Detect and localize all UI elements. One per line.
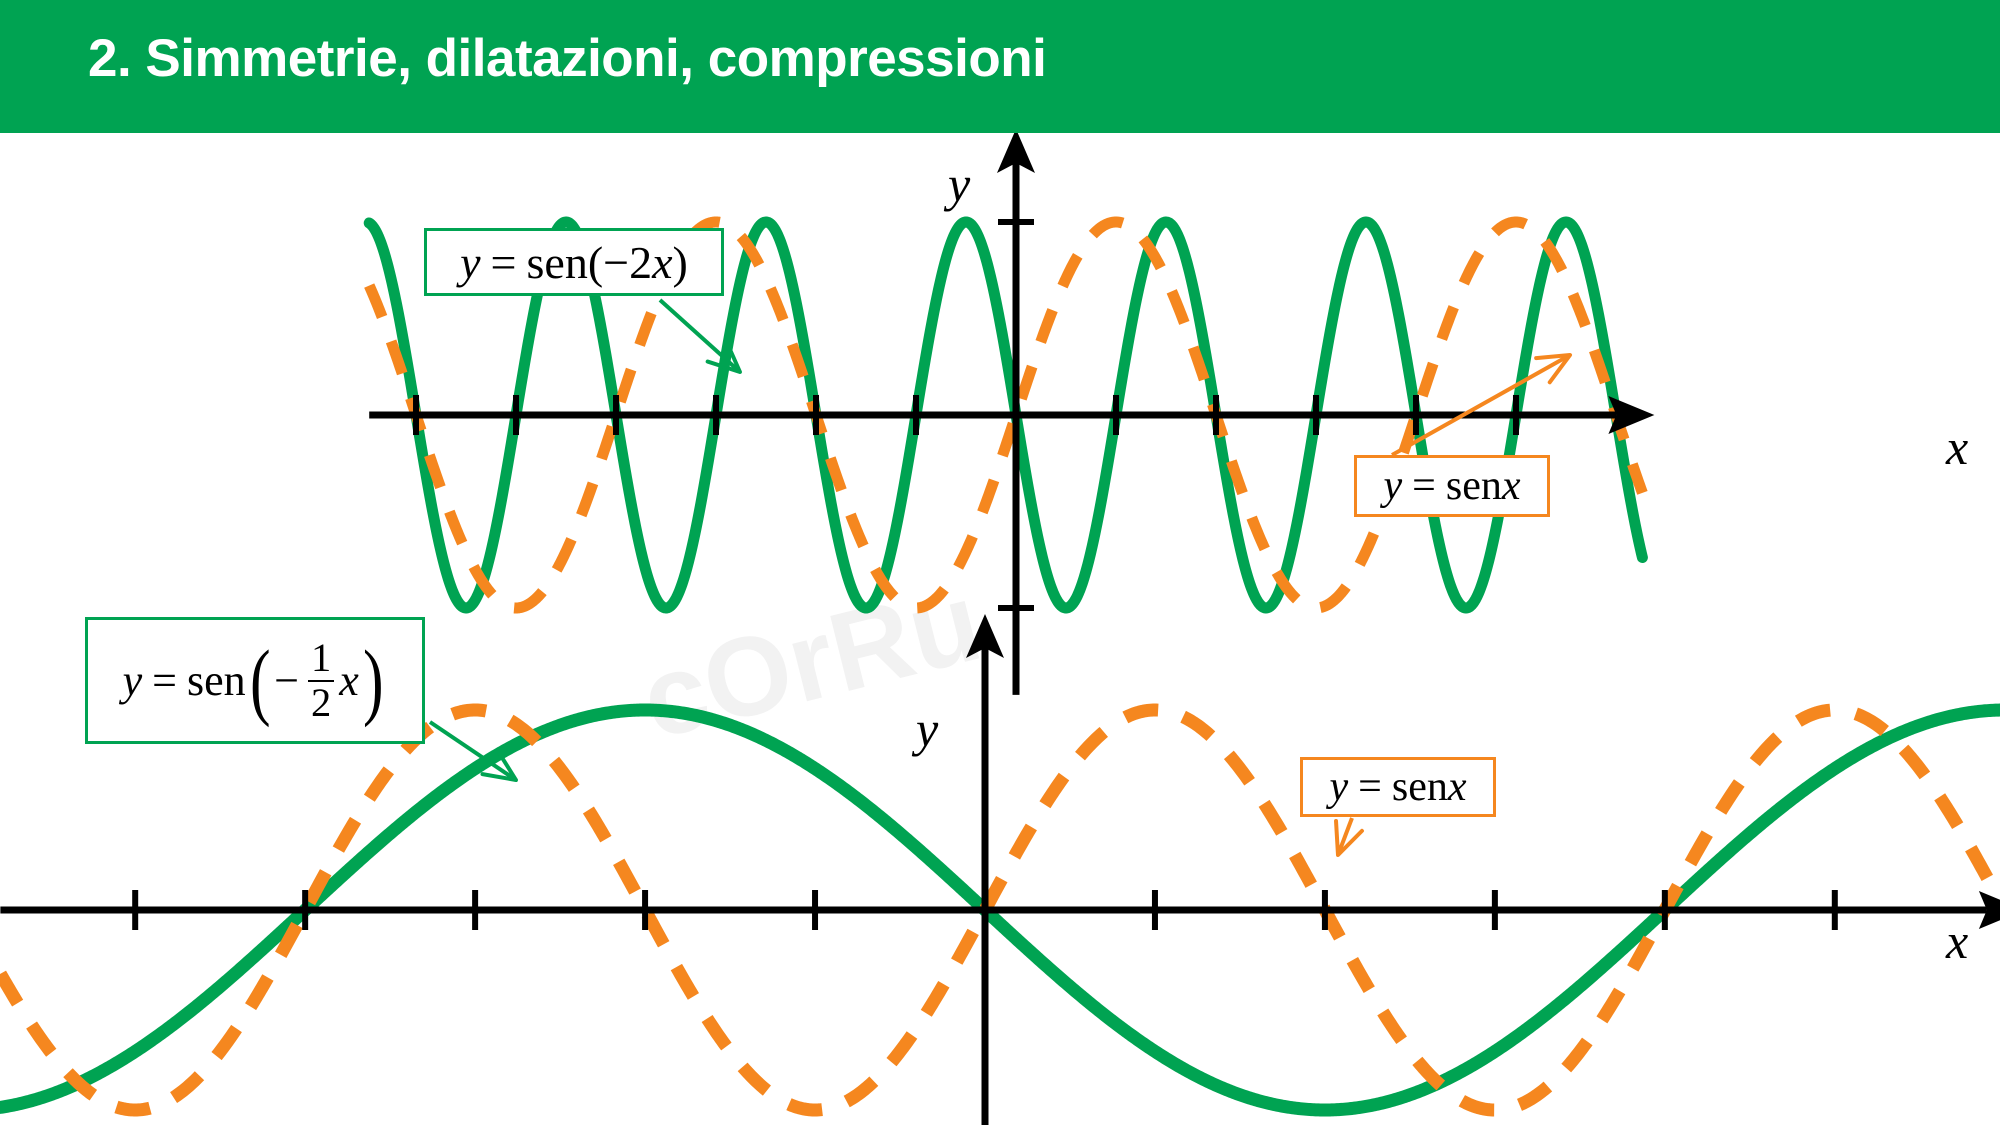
formula-box-sen-minus-2x[interactable]: y = sen ( − 2 x ) xyxy=(424,228,724,296)
callout-senx-upper-arrowhead xyxy=(1536,355,1570,382)
formula-paren-open: ( xyxy=(588,236,603,289)
formula-var-x: x xyxy=(652,236,672,289)
formula-paren-close: ) xyxy=(673,236,688,289)
fraction-numerator: 1 xyxy=(308,638,334,679)
formula-fn-sen: sen xyxy=(187,655,246,706)
axis-label-x-upper: x xyxy=(1946,418,1968,476)
formula-box-senx-upper[interactable]: y = sen x xyxy=(1354,455,1550,517)
formula-fn-sen: sen xyxy=(1446,462,1502,510)
axis-label-y-lower: y xyxy=(916,700,938,758)
formula-fn-sen: sen xyxy=(1392,763,1448,811)
formula-box-sen-minus-half-x[interactable]: y = sen ( − 1 2 x ) xyxy=(85,617,425,744)
axis-label-x-lower: x xyxy=(1946,912,1968,970)
fraction-denominator: 2 xyxy=(308,680,334,723)
formula-coefficient: 2 xyxy=(629,236,652,289)
formula-equals: = xyxy=(152,655,177,706)
formula-minus-sign: − xyxy=(603,236,629,289)
formula-equals: = xyxy=(1412,462,1436,510)
formula-fn-sen: sen xyxy=(527,236,588,289)
formula-equals: = xyxy=(491,236,517,289)
formula-paren-open: ( xyxy=(250,650,271,712)
formula-var-x: x xyxy=(1502,462,1521,510)
page-title: 2. Simmetrie, dilatazioni, compressioni xyxy=(88,28,1046,89)
formula-var-x: x xyxy=(339,655,359,706)
axis-label-y-upper: y xyxy=(948,155,970,213)
formula-var-y: y xyxy=(460,236,480,289)
formula-fraction-one-half: 1 2 xyxy=(308,638,334,723)
formula-var-y: y xyxy=(1330,763,1349,811)
formula-var-y: y xyxy=(1384,462,1403,510)
title-banner: 2. Simmetrie, dilatazioni, compressioni xyxy=(0,0,2000,133)
formula-var-x: x xyxy=(1448,763,1467,811)
formula-var-y: y xyxy=(123,655,143,706)
formula-paren-close: ) xyxy=(363,650,384,712)
formula-minus-sign: − xyxy=(274,655,299,706)
slide-canvas: 2. Simmetrie, dilatazioni, compressioni … xyxy=(0,0,2000,1125)
formula-box-senx-lower[interactable]: y = sen x xyxy=(1300,757,1496,817)
formula-equals: = xyxy=(1358,763,1382,811)
